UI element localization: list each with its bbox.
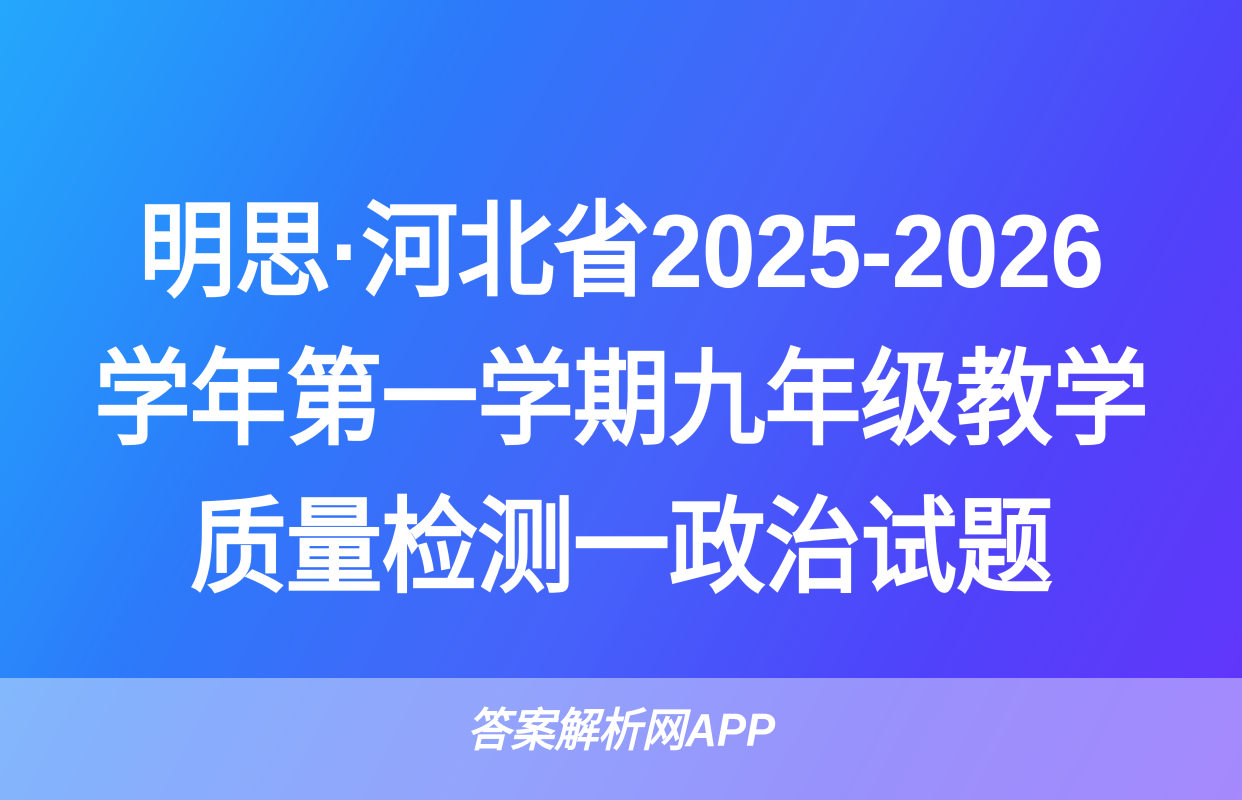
title-line-2: 学年第一学期九年级教学	[86, 326, 1156, 474]
banner-image: 明思·河北省2025-2026 学年第一学期九年级教学 质量检测一政治试题 答案…	[0, 0, 1242, 800]
title-line-1: 明思·河北省2025-2026	[86, 178, 1156, 326]
title-line-3: 质量检测一政治试题	[86, 474, 1156, 622]
watermark-app-label: 答案解析网APP	[31, 703, 1211, 757]
title-block: 明思·河北省2025-2026 学年第一学期九年级教学 质量检测一政治试题	[0, 178, 1242, 622]
